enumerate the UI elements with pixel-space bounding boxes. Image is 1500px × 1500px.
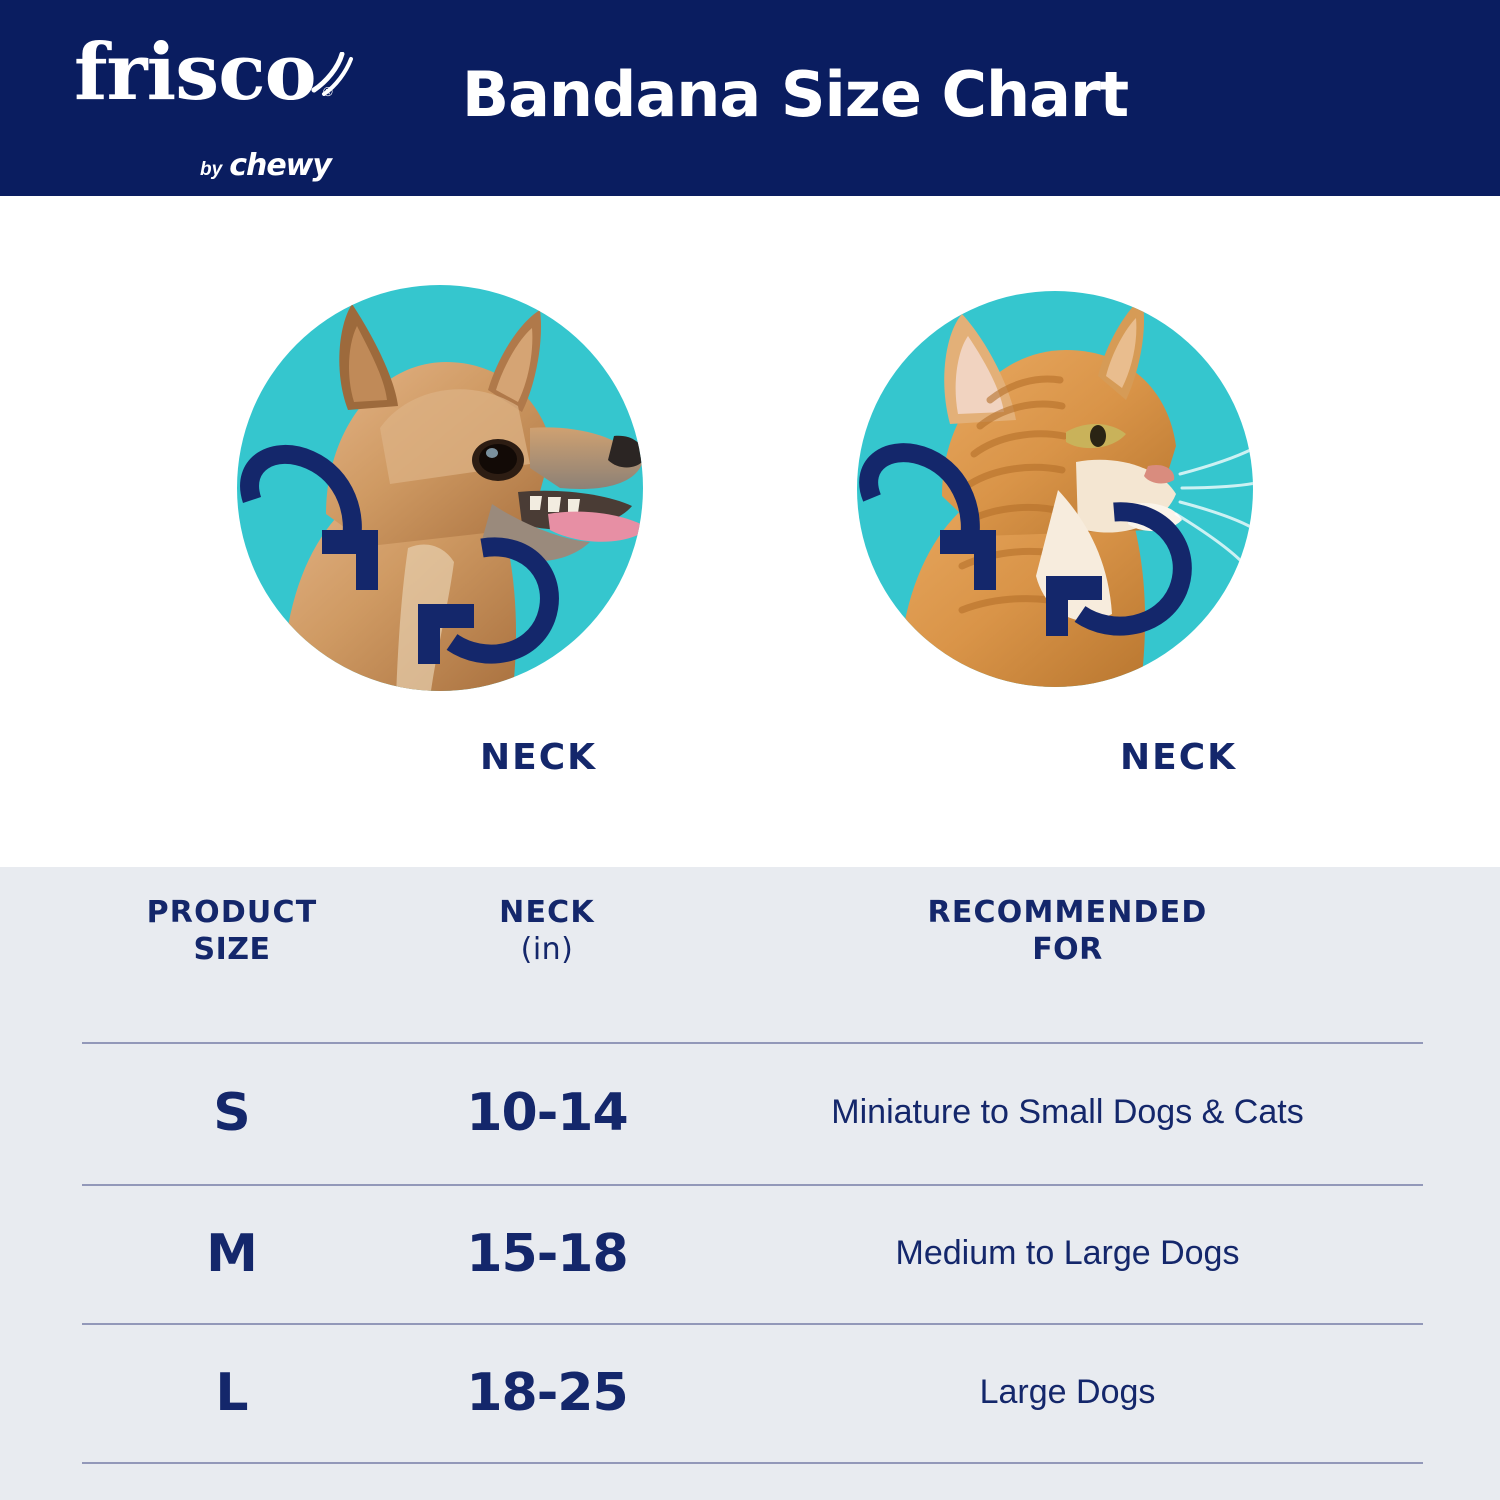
cat-measurement-panel: NECK — [820, 196, 1360, 867]
column-header-product-size-sublabel: SIZE — [82, 932, 382, 969]
table-row: S 10-14 Miniature to Small Dogs & Cats — [82, 1044, 1423, 1182]
column-header-recommended: RECOMMENDED FOR — [712, 895, 1423, 968]
cell-recommended: Miniature to Small Dogs & Cats — [712, 1091, 1423, 1135]
table-divider — [82, 1462, 1423, 1464]
byline-by-text: by — [200, 159, 222, 181]
table-header-row: PRODUCT SIZE NECK (in) RECOMMENDED FOR — [82, 895, 1423, 1015]
dog-head-photo — [230, 278, 650, 698]
cell-recommended: Large Dogs — [712, 1371, 1423, 1415]
dog-measurement-panel: NECK — [140, 196, 760, 867]
page-header: frisco ® by chewy Bandana Size Chart — [0, 0, 1500, 196]
frisco-byline: by chewy — [200, 148, 331, 183]
column-header-neck-sublabel: (in) — [382, 932, 712, 969]
table-row: M 15-18 Medium to Large Dogs — [82, 1185, 1423, 1323]
cat-neck-label: NECK — [1120, 737, 1237, 778]
column-header-neck-label: NECK — [499, 895, 595, 930]
page-title: Bandana Size Chart — [0, 58, 1500, 131]
dog-neck-label: NECK — [480, 737, 597, 778]
column-header-product-size-label: PRODUCT — [147, 895, 318, 930]
column-header-recommended-label: RECOMMENDED — [928, 895, 1208, 930]
cell-neck: 10-14 — [382, 1083, 712, 1143]
cell-neck: 18-25 — [382, 1363, 712, 1423]
bandana-size-chart-page: frisco ® by chewy Bandana Size Chart — [0, 0, 1500, 1500]
column-header-neck: NECK (in) — [382, 895, 712, 968]
cell-product-size: L — [82, 1363, 382, 1423]
size-table: PRODUCT SIZE NECK (in) RECOMMENDED FOR S… — [0, 867, 1500, 1500]
table-row: L 18-25 Large Dogs — [82, 1324, 1423, 1462]
column-header-recommended-sublabel: FOR — [712, 932, 1423, 969]
cell-neck: 15-18 — [382, 1224, 712, 1284]
column-header-product-size: PRODUCT SIZE — [82, 895, 382, 968]
cell-product-size: S — [82, 1083, 382, 1143]
chewy-wordmark: chewy — [229, 148, 331, 183]
cell-recommended: Medium to Large Dogs — [712, 1232, 1423, 1276]
cat-head-photo — [850, 284, 1260, 694]
cell-product-size: M — [82, 1224, 382, 1284]
measurement-illustrations: NECK — [0, 196, 1500, 867]
